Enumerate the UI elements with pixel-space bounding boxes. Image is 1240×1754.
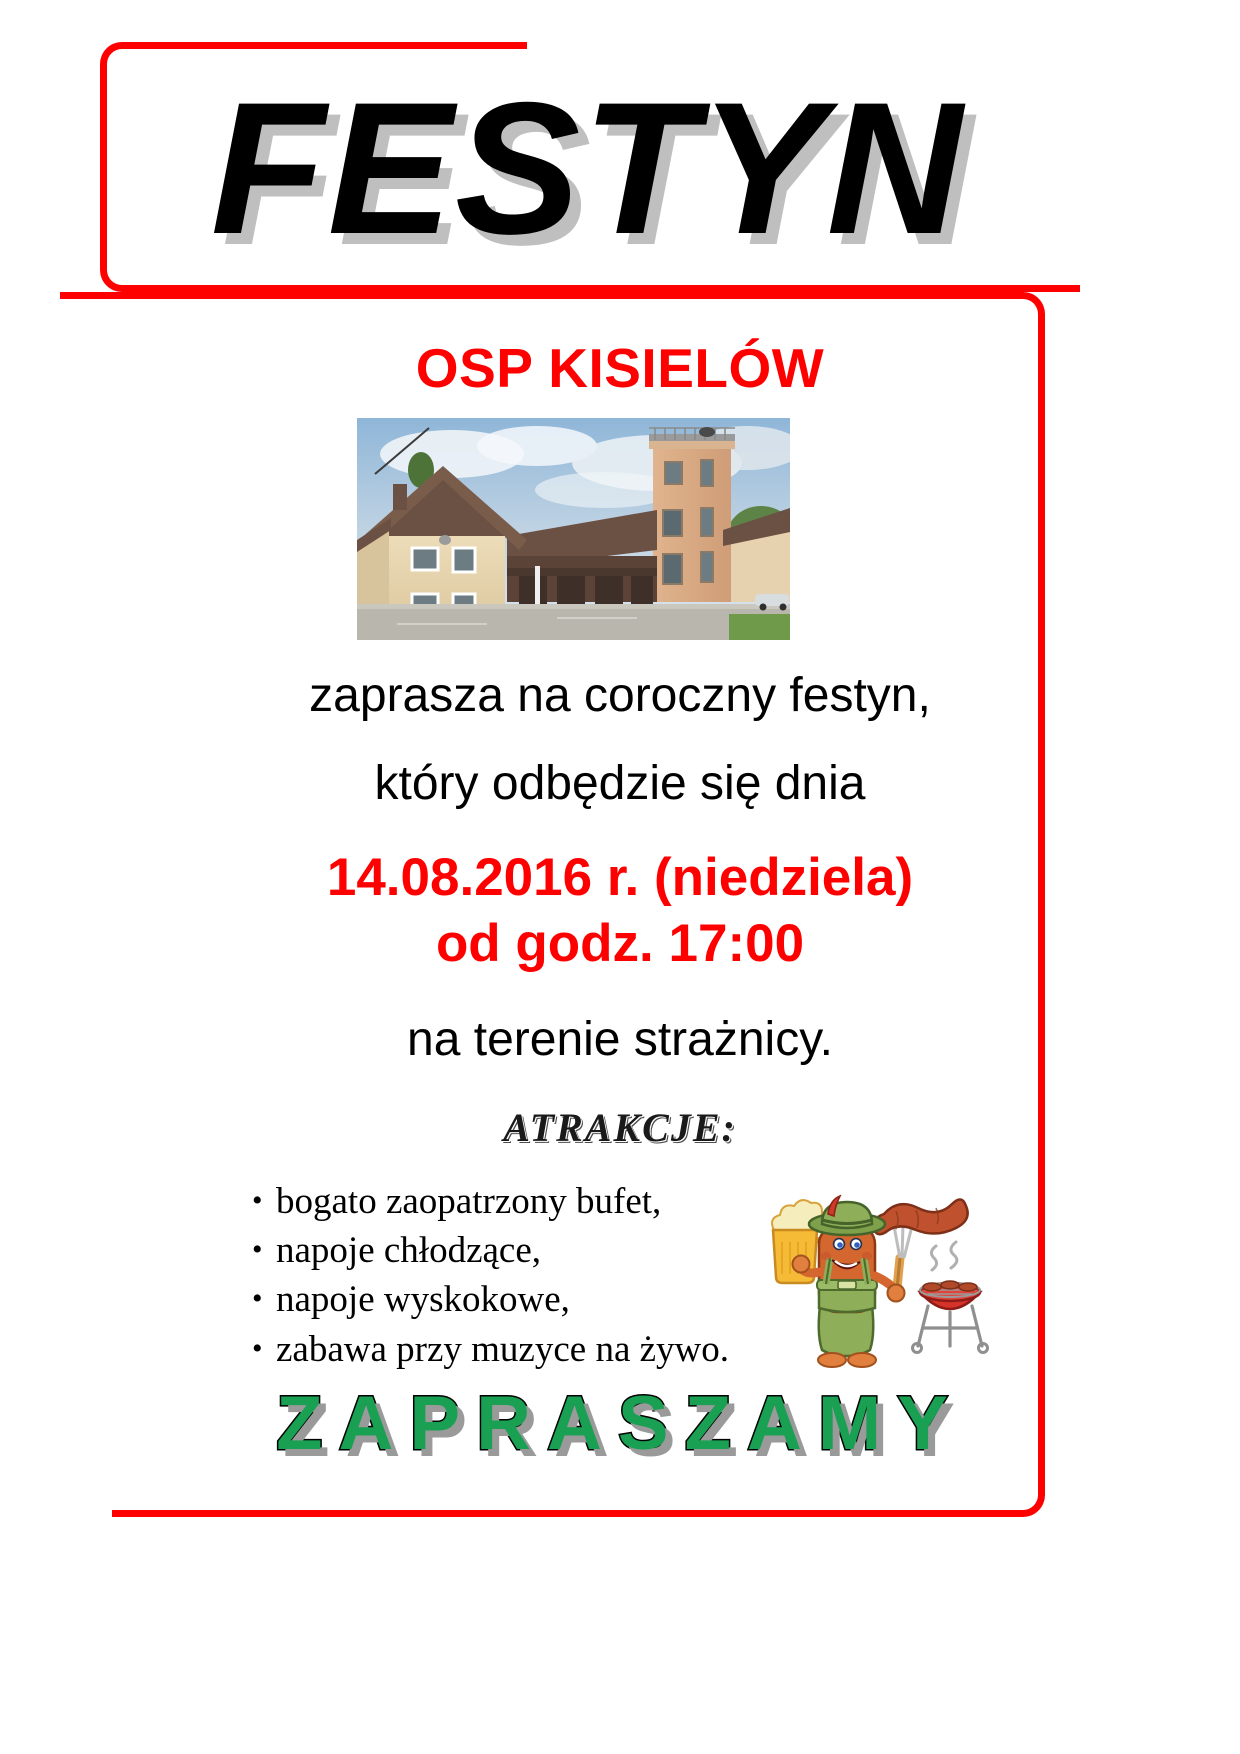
welcome-text: ZAPRASZAMY [0, 1380, 1240, 1467]
event-date-block: 14.08.2016 r. (niedziela) od godz. 17:00 [0, 845, 1240, 976]
fire-station-photo-graphic [357, 418, 790, 640]
list-item: •bogato zaopatrzony bufet, [248, 1177, 808, 1226]
bullet-icon: • [252, 1226, 263, 1275]
list-item: •napoje chłodzące, [248, 1226, 808, 1275]
attractions-list: •bogato zaopatrzony bufet, •napoje chłod… [248, 1177, 808, 1374]
invite-line: zaprasza na coroczny festyn, [0, 668, 1240, 723]
frame-bottom-mask [40, 1500, 112, 1526]
sausage-mascot-graphic [760, 1180, 990, 1370]
list-item-label: napoje chłodzące, [276, 1230, 541, 1271]
title-container: FESTYN [100, 60, 1075, 275]
bullet-icon: • [252, 1325, 263, 1374]
bbq-grill-icon [913, 1242, 988, 1353]
list-item-label: bogato zaopatrzony bufet, [276, 1181, 661, 1222]
list-item: •zabawa przy muzyce na żywo. [248, 1325, 808, 1374]
sausage-mascot-icon [760, 1180, 990, 1370]
bullet-icon: • [252, 1177, 263, 1226]
bullet-icon: • [252, 1275, 263, 1324]
event-date: 14.08.2016 r. (niedziela) [0, 845, 1240, 911]
attractions-heading: ATRAKCJE: [0, 1104, 1240, 1151]
place-line: na terenie strażnicy. [0, 1012, 1240, 1067]
list-item-label: napoje wyskokowe, [276, 1279, 570, 1320]
fire-station-photo [357, 418, 790, 640]
when-line: który odbędzie się dnia [0, 756, 1240, 811]
poster-canvas: FESTYN OSP KISIELÓW [0, 0, 1240, 1754]
list-item: •napoje wyskokowe, [248, 1275, 808, 1324]
organization-name: OSP KISIELÓW [0, 336, 1240, 400]
frame-top-mask [527, 34, 1087, 56]
poster-title: FESTYN [211, 74, 965, 262]
event-time: od godz. 17:00 [0, 911, 1240, 977]
list-item-label: zabawa przy muzyce na żywo. [276, 1329, 729, 1370]
